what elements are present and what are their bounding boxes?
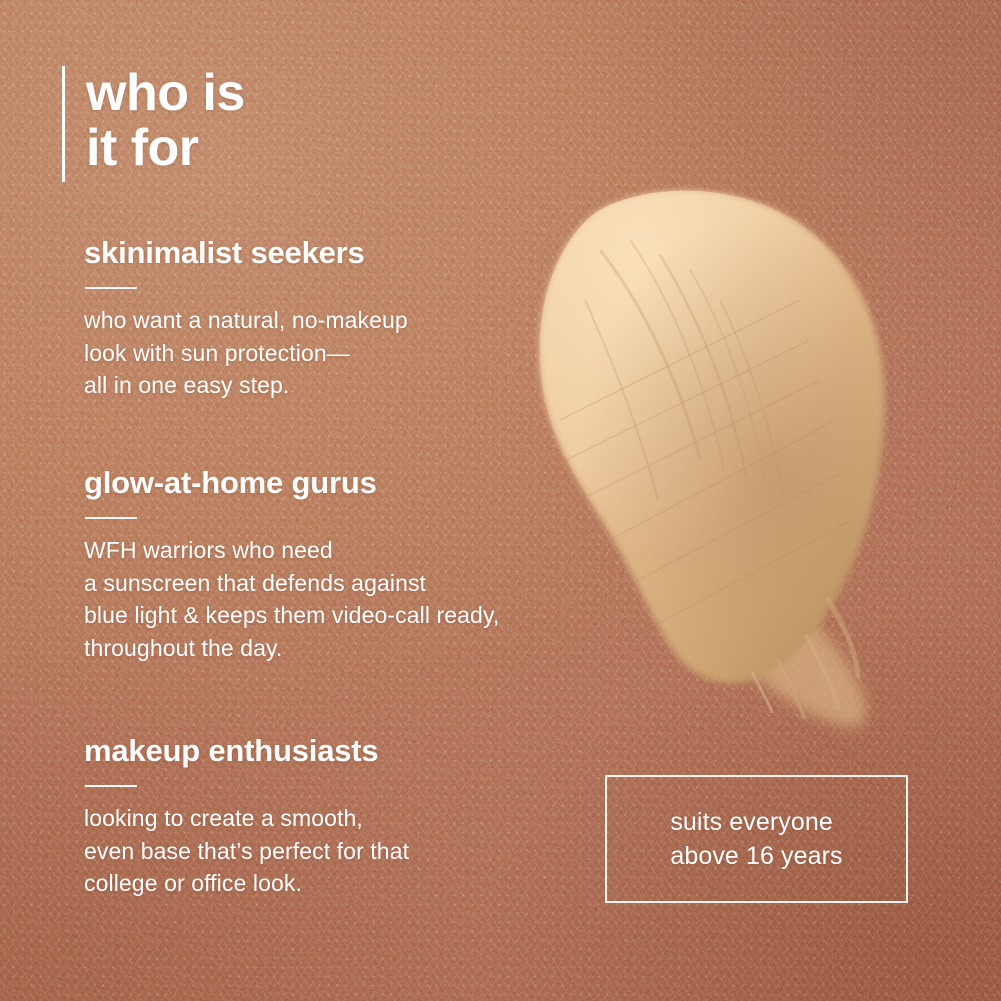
section-body-text: WFH warriors who need a sunscreen that d…	[84, 534, 499, 665]
section-divider	[85, 517, 137, 519]
callout-text: suits everyone above 16 years	[670, 805, 842, 874]
section-heading: glow-at-home gurus	[84, 466, 499, 500]
product-benefit-poster: who is it for skinimalist seekers who wa…	[0, 0, 1001, 1001]
page-title: who is it for	[62, 66, 245, 182]
benefit-section-skinimalist-seekers: skinimalist seekers who want a natural, …	[84, 236, 408, 402]
section-heading: skinimalist seekers	[84, 236, 408, 270]
benefit-section-glow-at-home-gurus: glow-at-home gurus WFH warriors who need…	[84, 466, 499, 665]
section-divider	[85, 785, 137, 787]
section-body-text: looking to create a smooth, even base th…	[84, 802, 409, 900]
section-divider	[85, 287, 137, 289]
age-suitability-callout: suits everyone above 16 years	[605, 775, 908, 903]
section-body-text: who want a natural, no-makeup look with …	[84, 304, 408, 402]
poster-content: who is it for skinimalist seekers who wa…	[0, 0, 1001, 1001]
title-text: who is it for	[86, 66, 245, 182]
benefit-section-makeup-enthusiasts: makeup enthusiasts looking to create a s…	[84, 734, 409, 900]
title-accent-bar	[62, 66, 65, 182]
section-heading: makeup enthusiasts	[84, 734, 409, 768]
